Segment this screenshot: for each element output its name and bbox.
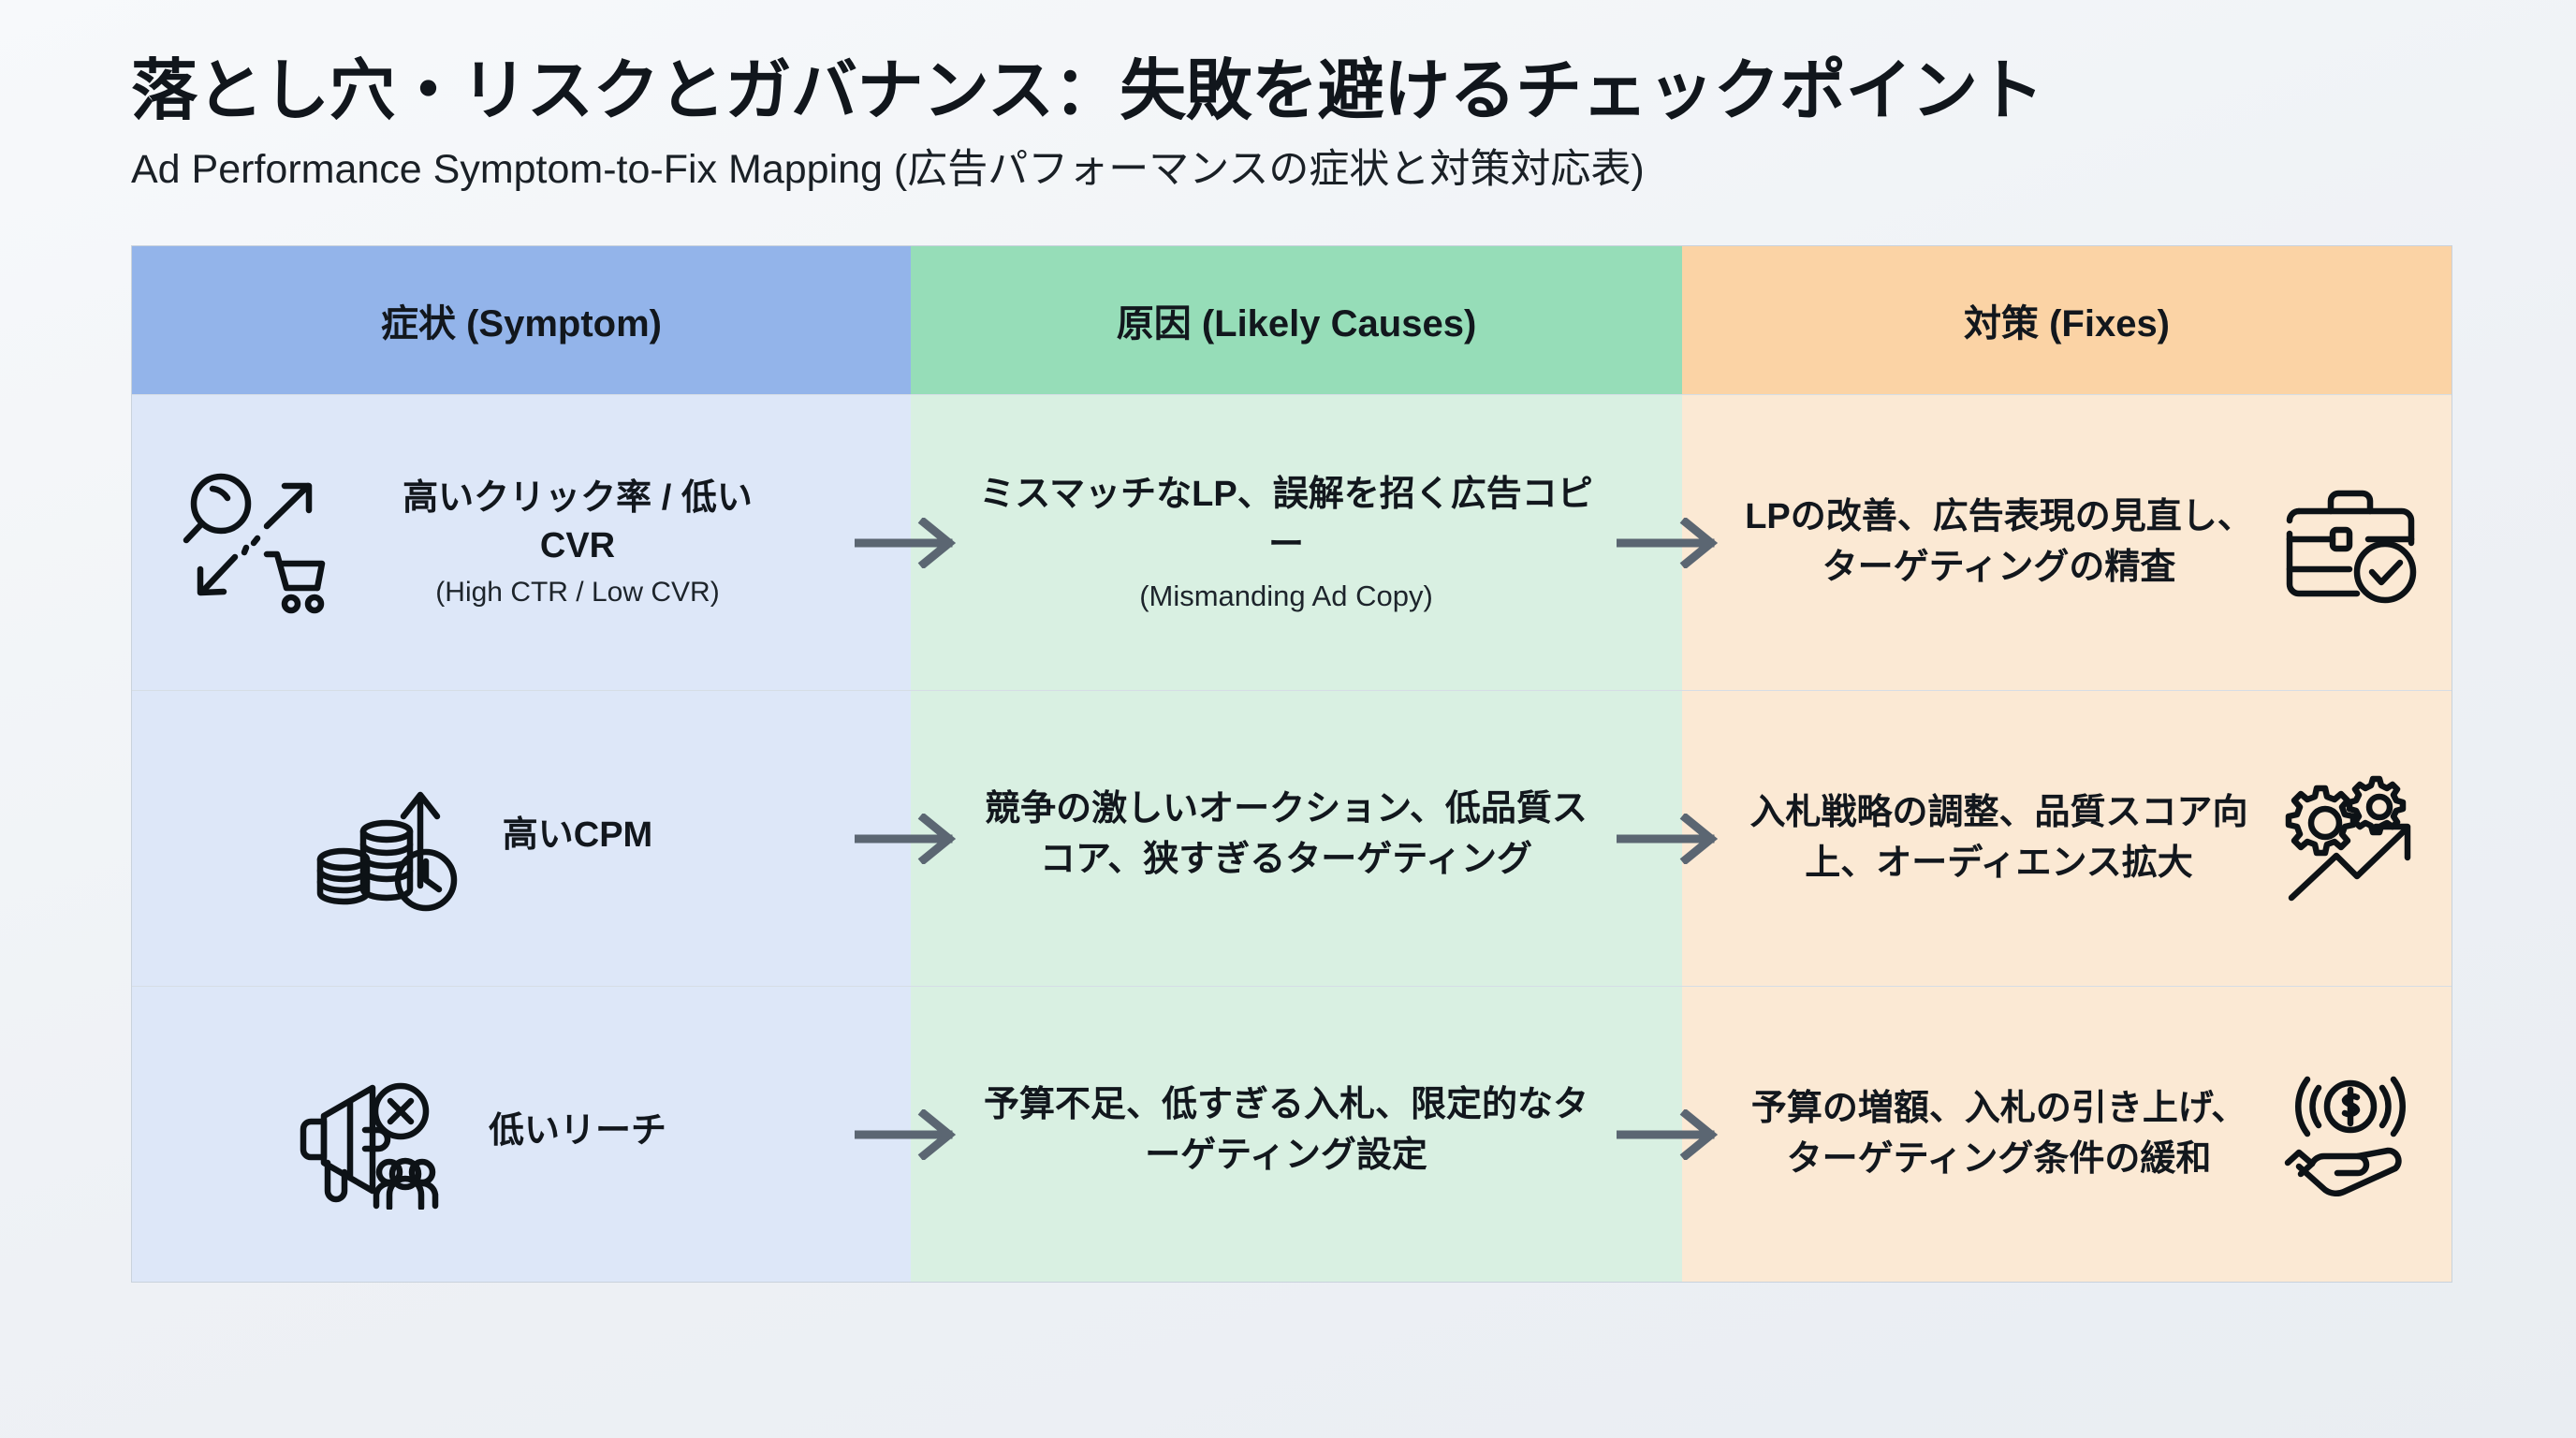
cell-fix: 入札戦略の調整、品質スコア向上、オーディエンス拡大: [1682, 691, 2452, 986]
symptom-title: 低いリーチ: [489, 1108, 666, 1155]
symptom-title: 高いCPM: [503, 812, 652, 859]
column-header-symptom-label: 症状 (Symptom): [381, 293, 662, 347]
symptom-title: 高いクリック率 / 低いCVR: [368, 475, 787, 569]
cell-fix: 予算の増額、入札の引き上げ、ターゲティング条件の緩和: [1682, 987, 2452, 1282]
column-header-fix: 対策 (Fixes): [1682, 246, 2452, 394]
column-header-cause: 原因 (Likely Causes): [911, 246, 1682, 394]
table-row: 高いクリック率 / 低いCVR (High CTR / Low CVR) ミスマ…: [132, 394, 2452, 690]
cause-subtitle: (Mismanding Ad Copy): [974, 579, 1598, 615]
symptom-to-fix-table: 症状 (Symptom) 原因 (Likely Causes) 対策 (Fixe…: [131, 245, 2452, 1283]
slide-canvas: 落とし穴・リスクとガバナンス：失敗を避けるチェックポイント Ad Perform…: [0, 0, 2576, 1438]
page-title: 落とし穴・リスクとガバナンス：失敗を避けるチェックポイント: [131, 54, 2454, 129]
cell-cause: ミスマッチなLP、誤解を招く広告コピー (Mismanding Ad Copy): [911, 395, 1682, 690]
cell-cause: 競争の激しいオークション、低品質スコア、狭すぎるターゲティング: [911, 691, 1682, 986]
cause-title: 予算不足、低すぎる入札、限定的なターゲティング設定: [974, 1080, 1598, 1181]
symptom-subtitle: (High CTR / Low CVR): [368, 575, 787, 610]
column-header-fix-label: 対策 (Fixes): [1964, 293, 2170, 347]
hand-coin-broadcast-icon: [2278, 1069, 2423, 1200]
fix-title: 予算の増額、入札の引き上げ、ターゲティング条件の緩和: [1744, 1084, 2254, 1185]
table-row: 低いリーチ 予算不足、低すぎる入札、限定的なターゲティング設定: [132, 986, 2452, 1282]
fix-title: 入札戦略の調整、品質スコア向上、オーディエンス拡大: [1744, 788, 2254, 889]
cell-symptom: 低いリーチ: [132, 987, 911, 1282]
megaphone-x-people-icon: [298, 1060, 457, 1210]
fix-title: LPの改善、広告表現の見直し、ターゲティングの精査: [1744, 492, 2254, 594]
column-header-symptom: 症状 (Symptom): [132, 246, 911, 394]
magnifier-uptrend-cart-icon: [177, 468, 336, 618]
cell-cause: 予算不足、低すぎる入札、限定的なターゲティング設定: [911, 987, 1682, 1282]
briefcase-check-icon: [2278, 477, 2423, 609]
table-header-row: 症状 (Symptom) 原因 (Likely Causes) 対策 (Fixe…: [132, 246, 2452, 394]
page-subtitle: Ad Performance Symptom-to-Fix Mapping (広…: [131, 146, 2454, 195]
cell-symptom: 高いクリック率 / 低いCVR (High CTR / Low CVR): [132, 395, 911, 690]
column-header-cause-label: 原因 (Likely Causes): [1117, 293, 1477, 347]
gears-growth-arrow-icon: [2278, 773, 2423, 904]
cell-fix: LPの改善、広告表現の見直し、ターゲティングの精査: [1682, 395, 2452, 690]
cause-title: ミスマッチなLP、誤解を招く広告コピー: [974, 470, 1598, 571]
coins-uparrow-clock-icon: [312, 764, 471, 914]
table-row: 高いCPM 競争の激しいオークション、低品質スコア、狭すぎるターゲティング: [132, 690, 2452, 986]
cause-title: 競争の激しいオークション、低品質スコア、狭すぎるターゲティング: [974, 785, 1598, 886]
cell-symptom: 高いCPM: [132, 691, 911, 986]
